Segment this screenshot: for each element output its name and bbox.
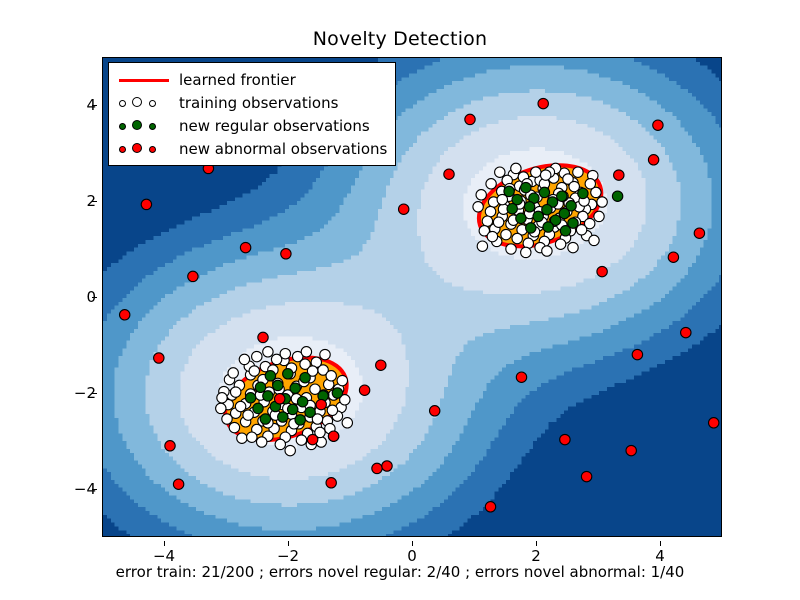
legend-dots-icon: [115, 94, 175, 112]
y-tick-label: −4: [62, 480, 96, 498]
y-axis-ticks: 420−2−4: [58, 57, 96, 537]
x-tick-mark: [536, 541, 537, 546]
y-tick-label: −2: [62, 384, 96, 402]
legend-marker-icon: [115, 94, 175, 112]
legend-dot-icon: [149, 100, 156, 107]
legend: learned frontiertraining observationsnew…: [108, 62, 396, 166]
figure-canvas: Novelty Detection 420−2−4 −4−2024 learne…: [0, 0, 800, 600]
legend-dot-icon: [119, 123, 126, 130]
legend-dots-icon: [115, 140, 175, 158]
y-tick-mark: [92, 489, 97, 490]
legend-dot-icon: [132, 143, 142, 153]
page-title: Novelty Detection: [0, 28, 800, 50]
legend-label: learned frontier: [175, 71, 296, 89]
legend-label: new abnormal observations: [175, 140, 387, 158]
legend-line-icon: [119, 79, 169, 82]
x-tick-mark: [164, 541, 165, 546]
y-tick-mark: [92, 393, 97, 394]
x-tick-mark: [412, 541, 413, 546]
y-tick-label: 0: [62, 288, 96, 306]
y-tick-label: 4: [62, 96, 96, 114]
x-axis-ticks: −4−2024: [102, 541, 722, 565]
x-tick-mark: [660, 541, 661, 546]
y-tick-mark: [92, 105, 97, 106]
legend-dot-icon: [119, 146, 126, 153]
legend-marker-icon: [115, 140, 175, 158]
legend-dot-icon: [149, 146, 156, 153]
legend-dot-icon: [119, 100, 126, 107]
legend-dots-icon: [115, 117, 175, 135]
y-tick-mark: [92, 201, 97, 202]
x-tick-mark: [288, 541, 289, 546]
legend-marker-icon: [115, 71, 175, 89]
legend-item[interactable]: learned frontier: [115, 68, 387, 91]
y-tick-mark: [92, 297, 97, 298]
legend-item[interactable]: training observations: [115, 91, 387, 114]
legend-dot-icon: [132, 120, 142, 130]
error-caption: error train: 21/200 ; errors novel regul…: [0, 563, 800, 581]
legend-dot-icon: [132, 97, 142, 107]
legend-label: new regular observations: [175, 117, 370, 135]
legend-item[interactable]: new abnormal observations: [115, 137, 387, 160]
y-tick-label: 2: [62, 192, 96, 210]
legend-label: training observations: [175, 94, 338, 112]
legend-dot-icon: [149, 123, 156, 130]
legend-item[interactable]: new regular observations: [115, 114, 387, 137]
legend-marker-icon: [115, 117, 175, 135]
